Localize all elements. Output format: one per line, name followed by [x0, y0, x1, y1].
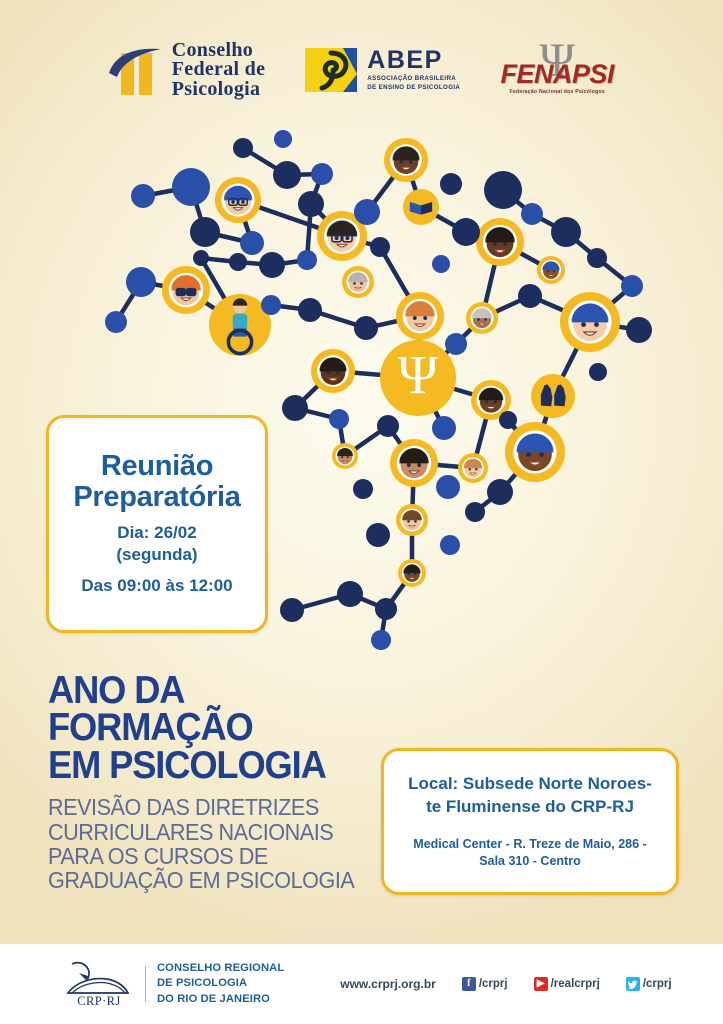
- crp-name-line-1: CONSELHO REGIONAL: [157, 961, 284, 976]
- network-dot: [521, 203, 543, 225]
- network-dot: [126, 267, 156, 297]
- network-dot: [105, 311, 127, 333]
- network-node-child-dark-hair-icon: [332, 443, 358, 469]
- meeting-title-line-2: Preparatória: [73, 482, 240, 513]
- network-dot: [190, 217, 220, 247]
- network-dot: [354, 316, 378, 340]
- network-node-person-blue-hair-smiling-icon: [560, 292, 620, 352]
- twitter-icon: [626, 977, 640, 991]
- fenapsi-tagline: Federação Nacional dos Psicólogos: [498, 89, 616, 95]
- logo-abep: ABEP ASSOCIAÇÃO BRASILEIRA DE ENSINO DE …: [303, 44, 460, 96]
- headline-sub-line-3: PARA OS CURSOS DE: [48, 844, 386, 868]
- network-dot: [193, 250, 209, 266]
- network-dot: [465, 502, 485, 522]
- headline-main-line-1: ANO DA FORMAÇÃO: [48, 672, 383, 747]
- network-dot: [273, 161, 301, 189]
- network-dot: [282, 395, 308, 421]
- cfp-line-3: Psicologia: [172, 80, 266, 100]
- crp-rj-abbrev: CRP·RJ: [62, 994, 136, 1009]
- partner-logos-bar: Conselho Federal de Psicologia ABEP ASSO…: [0, 30, 723, 110]
- location-address-line-2: Sala 310 - Centro: [413, 853, 646, 870]
- cfp-line-2: Federal de: [172, 60, 266, 80]
- network-node-person-blue-headwrap-icon: [505, 422, 565, 482]
- network-dot: [432, 416, 456, 440]
- network-dot: [297, 250, 317, 270]
- network-dot: [440, 173, 462, 195]
- crp-rj-logo: CRP·RJ CONSELHO REGIONAL DE PSICOLOGIA D…: [62, 960, 284, 1008]
- network-dot: [131, 184, 155, 208]
- logo-fenapsi: Ψ FENAPSI Federação Nacional dos Psicólo…: [498, 39, 616, 101]
- facebook-icon: f: [462, 977, 476, 991]
- network-node-person-dark-skin-smiling-icon: [311, 349, 355, 393]
- network-dot: [587, 248, 607, 268]
- network-node-person-beard-dark-skin-icon: [384, 138, 428, 182]
- headline-sub-line-4: GRADUAÇÃO EM PSICOLOGIA: [48, 868, 386, 892]
- abep-mark-icon: [303, 44, 359, 96]
- youtube-link[interactable]: ▶ /realcrprj: [534, 977, 600, 991]
- network-node-person-ginger-beard-icon: [396, 292, 444, 340]
- network-dot: [626, 317, 652, 343]
- network-node-person-gray-bun-icon: [466, 302, 498, 334]
- network-node-child-smiling-icon: [396, 504, 428, 536]
- network-dot: [440, 535, 460, 555]
- crp-rj-name-lines: CONSELHO REGIONAL DE PSICOLOGIA DO RIO D…: [157, 961, 284, 1007]
- crp-rj-mark-icon: CRP·RJ: [62, 960, 136, 1008]
- location-title-line-1: Local: Subsede Norte Noroes-: [408, 773, 652, 795]
- abep-subtitle-line-2: DE ENSINO DE PSICOLOGIA: [367, 84, 460, 92]
- footer-links: www.crprj.org.br f /crprj ▶ /realcrprj /…: [340, 977, 671, 991]
- network-node-person-red-hair-sunglasses-icon: [162, 266, 210, 314]
- network-dot: [436, 475, 460, 499]
- network-dot: [172, 168, 210, 206]
- facebook-handle: /crprj: [479, 978, 508, 990]
- network-dot: [261, 295, 281, 315]
- fenapsi-wordmark: FENAPSI: [498, 61, 616, 88]
- network-dot: [375, 598, 397, 620]
- network-node-psi-symbol-icon: Ψ: [380, 340, 456, 416]
- network-dot: [280, 598, 304, 622]
- network-node-child-light-skin-icon: [458, 453, 488, 483]
- poster-root: Conselho Federal de Psicologia ABEP ASSO…: [0, 0, 723, 1024]
- meeting-info-card: Reunião Preparatória Dia: 26/02 (segunda…: [46, 415, 268, 633]
- network-node-person-gray-hair-icon: [342, 266, 374, 298]
- twitter-link[interactable]: /crprj: [626, 977, 672, 991]
- network-dot: [377, 415, 399, 437]
- logo-conselho-federal-de-psicologia: Conselho Federal de Psicologia: [107, 41, 266, 100]
- network-dot: [240, 231, 264, 255]
- website-url[interactable]: www.crprj.org.br: [340, 977, 436, 991]
- location-title: Local: Subsede Norte Noroes- te Fluminen…: [408, 773, 652, 818]
- crp-bird-book-icon: [62, 960, 136, 996]
- meeting-title: Reunião Preparatória: [73, 451, 240, 514]
- headline-main: ANO DA FORMAÇÃO EM PSICOLOGIA: [48, 672, 383, 784]
- network-dot: [259, 252, 285, 278]
- cfp-wordmark: Conselho Federal de Psicologia: [172, 41, 266, 100]
- cfp-mark-icon: [107, 43, 163, 97]
- abep-subtitle: ASSOCIAÇÃO BRASILEIRA DE ENSINO DE PSICO…: [367, 75, 460, 92]
- network-dot: [551, 217, 581, 247]
- meeting-date: Dia: 26/02: [117, 522, 196, 544]
- network-dot: [274, 130, 292, 148]
- location-info-card: Local: Subsede Norte Noroes- te Fluminen…: [381, 748, 679, 895]
- cfp-swoosh-icon: [107, 47, 163, 81]
- network-dot: [432, 255, 450, 273]
- network-dot: [370, 237, 390, 257]
- network-dot: [484, 171, 522, 209]
- crp-logo-divider: [145, 966, 146, 1002]
- network-dot: [229, 253, 247, 271]
- abep-wordmark: ABEP ASSOCIAÇÃO BRASILEIRA DE ENSINO DE …: [367, 48, 460, 92]
- svg-text:Ψ: Ψ: [398, 344, 439, 405]
- location-address: Medical Center - R. Treze de Maio, 286 -…: [413, 836, 646, 870]
- facebook-link[interactable]: f /crprj: [462, 977, 508, 991]
- network-dot: [621, 275, 643, 297]
- poster-footer: CRP·RJ CONSELHO REGIONAL DE PSICOLOGIA D…: [0, 944, 723, 1024]
- network-dot: [329, 409, 349, 429]
- network-node-child-dark-skin-icon: [398, 559, 426, 587]
- network-node-person-afro-dark-skin-icon: [476, 218, 524, 266]
- meeting-time: Das 09:00 às 12:00: [81, 575, 232, 597]
- crp-name-line-3: DO RIO DE JANEIRO: [157, 992, 284, 1007]
- network-dot: [354, 199, 380, 225]
- network-dot: [445, 333, 467, 355]
- network-dot: [452, 218, 480, 246]
- network-dot: [499, 411, 517, 429]
- network-node-sign-language-hands-icon: [531, 374, 575, 418]
- headline-subtitle: REVISÃO DAS DIRETRIZES CURRICULARES NACI…: [48, 795, 386, 893]
- youtube-icon: ▶: [534, 977, 548, 991]
- poster-headline: ANO DA FORMAÇÃO EM PSICOLOGIA REVISÃO DA…: [48, 672, 408, 893]
- network-node-book-icon: [403, 189, 439, 225]
- network-node-child-blue-cap-icon: [537, 256, 565, 284]
- network-dot: [589, 363, 607, 381]
- network-dot: [233, 138, 253, 158]
- headline-main-line-2: EM PSICOLOGIA: [48, 747, 383, 784]
- network-dot: [311, 163, 333, 185]
- headline-sub-line-1: REVISÃO DAS DIRETRIZES: [48, 795, 386, 819]
- crp-name-line-2: DE PSICOLOGIA: [157, 976, 284, 991]
- meeting-weekday: (segunda): [116, 544, 197, 566]
- network-dot: [298, 191, 324, 217]
- network-node-person-blue-cap-glasses-icon: [215, 177, 261, 223]
- network-dot: [371, 630, 391, 650]
- network-node-person-long-hair-icon: [390, 439, 438, 487]
- meeting-title-line-1: Reunião: [73, 451, 240, 482]
- twitter-handle: /crprj: [643, 978, 672, 990]
- location-title-line-2: te Fluminense do CRP-RJ: [408, 796, 652, 818]
- network-dot: [337, 581, 363, 607]
- headline-sub-line-2: CURRICULARES NACIONAIS: [48, 820, 386, 844]
- network-dot: [366, 523, 390, 547]
- network-dot: [518, 284, 542, 308]
- network-dot: [353, 479, 373, 499]
- abep-acronym: ABEP: [367, 48, 460, 73]
- network-dot: [487, 479, 513, 505]
- abep-subtitle-line-1: ASSOCIAÇÃO BRASILEIRA: [367, 75, 460, 83]
- youtube-handle: /realcrprj: [551, 978, 600, 990]
- location-address-line-1: Medical Center - R. Treze de Maio, 286 -: [413, 836, 646, 853]
- network-dot: [298, 298, 322, 322]
